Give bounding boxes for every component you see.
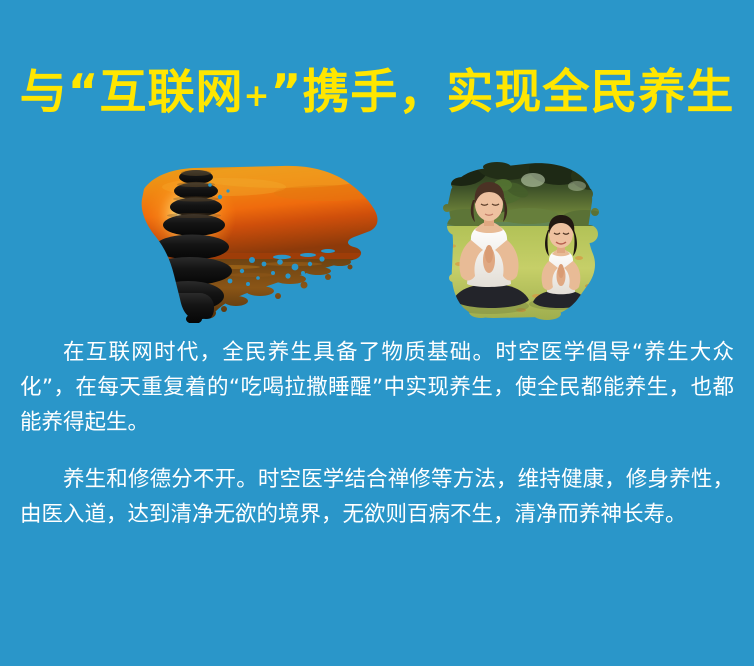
body-copy: 在互联网时代，全民养生具备了物质基础。时空医学倡导“养生大众化”，在每天重复着的… xyxy=(20,335,734,532)
page-title: 与“互联网+”携手，实现全民养生 xyxy=(0,64,754,125)
zen-stones-sunset-image xyxy=(132,163,382,323)
image-band xyxy=(0,155,754,330)
poster-root: 与“互联网+”携手，实现全民养生 xyxy=(0,0,754,666)
mother-child-meditation-image xyxy=(437,160,605,320)
page-title-plus: + xyxy=(244,78,271,114)
mother-child-meditation-canvas xyxy=(437,160,605,320)
paragraph-1: 在互联网时代，全民养生具备了物质基础。时空医学倡导“养生大众化”，在每天重复着的… xyxy=(20,335,734,440)
paragraph-2: 养生和修德分不开。时空医学结合禅修等方法，维持健康，修身养性，由医入道，达到清净… xyxy=(20,462,734,532)
page-title-part-1: 与“互联网 xyxy=(20,65,244,120)
page-title-part-2: ”携手，实现全民养生 xyxy=(270,65,734,120)
zen-stones-sunset-canvas xyxy=(132,163,382,323)
